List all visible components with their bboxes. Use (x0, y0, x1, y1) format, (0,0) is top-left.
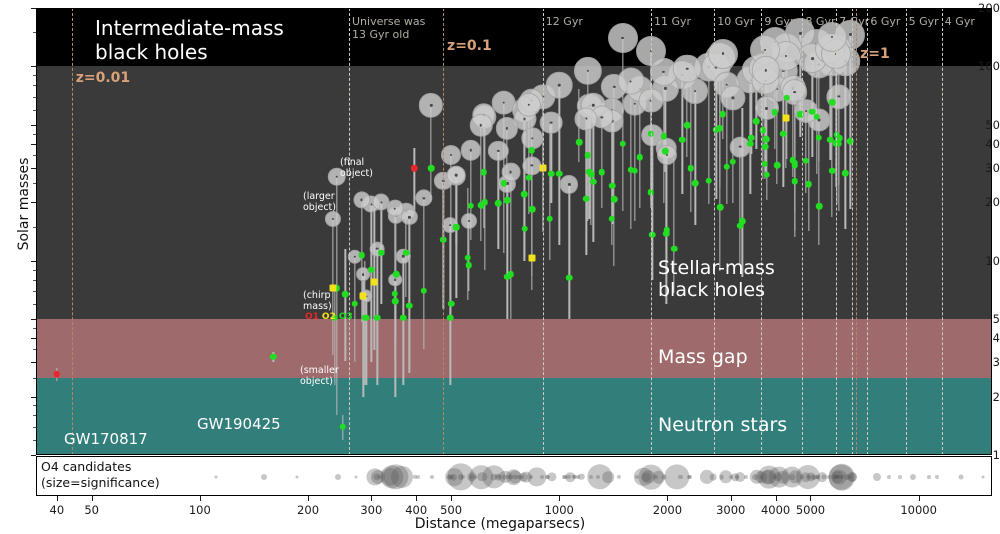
o4-candidate-dot (652, 471, 665, 484)
chirp-mass-marker-o3 (791, 178, 798, 185)
o4-candidate-dot (688, 475, 692, 479)
chirp-mass-marker-o3 (619, 141, 626, 148)
chirp-mass-marker-o3 (803, 158, 810, 165)
y-tick-minor (33, 183, 36, 184)
chirp-mass-marker-o3 (590, 179, 597, 186)
chirp-mass-marker-o3 (809, 108, 816, 115)
y-tick-minor (33, 328, 36, 329)
chirp-mass-marker-o3 (548, 170, 555, 177)
o4-candidate-dot (416, 475, 420, 479)
chirp-mass-marker-o3 (730, 158, 737, 165)
chirp-mass-marker-o2 (360, 292, 367, 299)
y-tick-minor (33, 440, 36, 441)
o4-candidate-dot (295, 476, 298, 479)
event-mass-range-line (361, 200, 362, 322)
y-tick-minor (33, 97, 36, 98)
chirp-mass-marker-o3 (378, 249, 385, 256)
annotation-gw190425: GW190425 (197, 415, 281, 433)
band-label-mass-gap: Mass gap (658, 346, 748, 368)
o4-candidate-dot (617, 475, 621, 479)
final-object-marker (708, 39, 738, 69)
chirp-mass-marker-o3 (662, 148, 669, 155)
chirp-mass-marker-o3 (753, 118, 760, 125)
y-tick-label-40: 40 (970, 137, 1000, 151)
y-tick-minor (33, 227, 36, 228)
y-tick-minor (33, 378, 36, 379)
o4-candidate-dot (576, 475, 580, 479)
final-object-marker (470, 114, 493, 137)
chirp-mass-marker-o3 (705, 177, 712, 184)
event-mass-range-line (549, 125, 550, 259)
lookback-line-4-gyr (942, 8, 943, 455)
final-object-marker (560, 175, 578, 193)
chirp-mass-marker-o3 (660, 133, 667, 140)
x-tick-label-10000: 10000 (900, 503, 937, 517)
x-tick-mark-10000 (919, 496, 920, 501)
y-tick-mark-30 (31, 168, 36, 169)
final-object-marker (546, 72, 573, 99)
y-tick-minor (33, 427, 36, 428)
x-tick-label-100: 100 (189, 503, 211, 517)
x-tick-mark-400 (416, 496, 417, 501)
y-tick-mark-2 (31, 397, 36, 398)
chirp-mass-marker-o3 (586, 168, 593, 175)
lookback-line-universe-was-13-gyr-old (349, 8, 350, 455)
legend-run-o3: O3 (339, 312, 353, 322)
chirp-mass-marker-o2 (528, 254, 535, 261)
lookback-line-7-gyr (836, 8, 837, 455)
chirp-mass-marker-o3 (772, 109, 779, 116)
band-label-intermediate-mass: Intermediate-mass black holes (95, 17, 284, 64)
chirp-mass-marker-o3 (762, 160, 769, 167)
chirp-mass-marker-o3 (584, 152, 591, 159)
event-mass-range-line (354, 257, 355, 363)
chirp-mass-marker-o3 (724, 164, 731, 171)
chirp-mass-marker-o3 (352, 301, 359, 308)
y-tick-mark-5 (31, 319, 36, 320)
y-tick-mark-10 (31, 261, 36, 262)
chirp-mass-marker-o3 (392, 291, 399, 298)
chirp-mass-marker-o3 (400, 314, 407, 321)
event-mass-range-line (569, 184, 570, 319)
y-tick-minor (33, 304, 36, 305)
chirp-mass-marker-o1 (54, 371, 61, 378)
y-tick-minor (33, 85, 36, 86)
x-tick-label-4000: 4000 (761, 503, 790, 517)
lookback-line-5-gyr (906, 8, 907, 455)
y-tick-mark-20 (31, 202, 36, 203)
chirp-mass-marker-o3 (521, 225, 528, 232)
redshift-label-2: z=1 (860, 46, 890, 62)
event-mass-range-line (366, 296, 367, 385)
x-tick-mark-50 (92, 496, 93, 501)
o4-candidate-dot (981, 476, 984, 479)
chirp-mass-marker-o3 (692, 180, 699, 187)
y-tick-label-2: 2 (970, 390, 1000, 404)
chirp-mass-marker-o3 (609, 215, 616, 222)
chirp-mass-marker-o3 (763, 171, 770, 178)
event-mass-range-line (740, 147, 741, 266)
x-tick-label-200: 200 (297, 503, 319, 517)
chirp-mass-marker-o3 (763, 136, 770, 143)
chirp-mass-marker-o3 (816, 203, 823, 210)
chirp-mass-marker-o3 (547, 216, 554, 223)
o4-caption: O4 candidates (size=significance) (41, 459, 160, 490)
y-tick-minor (33, 415, 36, 416)
o4-candidate-dot (664, 464, 689, 489)
chirp-mass-marker-o3 (556, 171, 563, 178)
event-mass-range-line (414, 148, 415, 211)
event-mass-range-line (374, 198, 375, 350)
y-tick-minor (33, 75, 36, 76)
o4-candidate-dot (521, 472, 532, 483)
redshift-line-z-0-1 (443, 8, 444, 455)
event-mass-range-line (666, 155, 667, 261)
redshift-label-1: z=0.1 (447, 38, 492, 54)
event-mass-range-line (423, 198, 424, 349)
y-tick-label-1: 1 (970, 448, 1000, 462)
x-tick-mark-3000 (731, 496, 732, 501)
event-mass-range-line (409, 217, 410, 373)
y-tick-minor (33, 405, 36, 406)
x-tick-label-2000: 2000 (653, 503, 682, 517)
chirp-mass-marker-o3 (495, 200, 502, 207)
chirp-mass-marker-o3 (392, 298, 399, 305)
chirp-mass-marker-o3 (500, 180, 507, 187)
x-tick-mark-200 (308, 496, 309, 501)
o4-candidate-dot (547, 472, 556, 481)
chirp-mass-marker-o3 (507, 271, 514, 278)
chirp-mass-marker-o3 (684, 122, 691, 129)
y-tick-label-3: 3 (970, 355, 1000, 369)
chirp-mass-marker-o3 (599, 169, 606, 176)
chirp-mass-marker-o3 (406, 302, 413, 309)
y-tick-minor (33, 280, 36, 281)
chirp-mass-marker-o2 (371, 279, 378, 286)
x-tick-mark-300 (371, 496, 372, 501)
o4-candidate-dot (887, 475, 891, 479)
o4-candidate-dot (898, 475, 902, 479)
o4-candidate-dot (469, 465, 493, 489)
y-tick-label-5: 5 (970, 312, 1000, 326)
o4-candidate-dot (873, 473, 881, 481)
chirp-mass-marker-o3 (829, 167, 836, 174)
chirp-mass-marker-o3 (671, 245, 678, 252)
x-axis-title: Distance (megaparsecs) (0, 516, 1000, 532)
chirp-mass-marker-o3 (609, 183, 616, 190)
y-tick-minor (33, 134, 36, 135)
chirp-mass-marker-o3 (717, 204, 724, 211)
x-tick-mark-5000 (810, 496, 811, 501)
event-mass-range-line (601, 117, 602, 208)
chirp-mass-marker-o3 (428, 165, 435, 172)
band-label-neutron-stars: Neutron stars (658, 414, 787, 436)
lookback-label-6: 7 Gyr (839, 15, 869, 28)
o4-candidate-dot (603, 471, 615, 483)
chirp-mass-marker-o3 (361, 314, 368, 321)
chirp-mass-marker-o3 (679, 136, 686, 143)
chirp-mass-marker-o3 (829, 99, 836, 106)
lookback-line-11-gyr (651, 8, 652, 455)
chirp-mass-marker-o3 (780, 131, 787, 138)
chirp-mass-marker-o3 (342, 291, 349, 298)
x-tick-mark-40 (57, 496, 58, 501)
x-tick-label-500: 500 (440, 503, 462, 517)
chirp-mass-marker-o3 (688, 165, 695, 172)
x-tick-label-3000: 3000 (716, 503, 745, 517)
chirp-mass-marker-o3 (529, 206, 536, 213)
o4-candidate-dot (800, 475, 804, 479)
lookback-label-0: Universe was 13 Gyr old (352, 15, 425, 42)
chirp-mass-marker-o3 (421, 288, 428, 295)
chirp-mass-marker-o3 (358, 252, 365, 259)
lookback-line-6-gyr (867, 8, 868, 455)
redshift-line-z-1 (856, 8, 857, 455)
event-mass-range-line (742, 108, 743, 277)
lookback-label-7: 6 Gyr (870, 15, 900, 28)
band-mass-gap (36, 319, 992, 377)
o4-candidate-dot (743, 475, 747, 479)
lookback-line-9-gyr (761, 8, 762, 455)
o4-candidate-dot (261, 474, 267, 480)
x-tick-label-1000: 1000 (545, 503, 574, 517)
chirp-mass-marker-o3 (576, 139, 583, 146)
x-tick-label-40: 40 (50, 503, 65, 517)
y-tick-minor (33, 270, 36, 271)
y-tick-label-50: 50 (970, 118, 1000, 132)
chirp-mass-marker-o3 (368, 266, 375, 273)
y-tick-label-10: 10 (970, 254, 1000, 268)
y-tick-mark-40 (31, 144, 36, 145)
o4-candidate-dot (391, 466, 413, 488)
final-object-marker (461, 213, 477, 229)
chirp-mass-marker-o3 (466, 262, 473, 269)
o4-candidate-dot (927, 475, 931, 479)
chirp-mass-marker-o3 (583, 196, 590, 203)
x-tick-label-5000: 5000 (796, 503, 825, 517)
o4-candidate-dot (502, 475, 507, 480)
o4-candidate-dot (700, 470, 714, 484)
legend-run-o1: O1 (305, 312, 319, 322)
o4-candidate-dot (958, 475, 963, 480)
chirp-mass-marker-o3 (806, 181, 813, 188)
y-tick-label-20: 20 (970, 195, 1000, 209)
y-tick-mark-4 (31, 338, 36, 339)
lookback-label-8: 5 Gyr (909, 15, 939, 28)
x-tick-mark-2000 (667, 496, 668, 501)
chirp-mass-marker-o3 (719, 111, 726, 118)
y-tick-mark-1 (31, 455, 36, 456)
final-object-marker (447, 166, 466, 185)
final-object-marker (673, 54, 702, 83)
chirp-mass-marker-o3 (521, 191, 528, 198)
x-tick-label-400: 400 (405, 503, 427, 517)
event-mass-range-line (559, 85, 560, 245)
x-tick-mark-4000 (776, 496, 777, 501)
event-mass-range-line (430, 105, 431, 202)
chirp-mass-marker-o3 (504, 197, 511, 204)
chirp-mass-marker-o3 (783, 94, 790, 101)
event-mass-range-line (551, 123, 552, 203)
event-mass-range-line (586, 119, 587, 255)
chirp-mass-marker-o3 (525, 175, 532, 182)
y-tick-minor (33, 155, 36, 156)
lookback-label-2: 11 Gyr (654, 15, 691, 28)
chirp-mass-marker-o3 (611, 196, 618, 203)
o4-candidate-dot (720, 475, 725, 480)
chirp-mass-marker-o3 (627, 166, 634, 173)
o4-candidate-dot (458, 474, 464, 480)
annotation-smaller-object: (smaller object) (300, 365, 339, 388)
chirp-mass-marker-o3 (453, 225, 460, 232)
chirp-mass-marker-o3 (403, 249, 410, 256)
event-mass-range-line (345, 249, 346, 362)
observing-run-legend: O1O2O3 (305, 312, 356, 322)
plot-area: Universe was 13 Gyr old12 Gyr11 Gyr10 Gy… (36, 8, 992, 455)
final-object-marker (617, 68, 644, 95)
y-tick-label-200: 200 (970, 1, 1000, 15)
chirp-mass-marker-o3 (480, 169, 487, 176)
final-object-marker (608, 23, 638, 53)
final-object-marker (501, 163, 520, 182)
chirp-mass-marker-o3 (759, 127, 766, 134)
legend-run-o2: O2 (322, 312, 336, 322)
redshift-line-z-0-01 (72, 8, 73, 455)
y-tick-mark-100 (31, 66, 36, 67)
o4-candidate-dot (755, 471, 767, 483)
band-neutron-stars (36, 378, 992, 455)
chirp-mass-marker-o3 (747, 141, 754, 148)
x-tick-label-50: 50 (84, 503, 99, 517)
o4-candidates-strip: O4 candidates (size=significance) (36, 456, 992, 496)
chirp-mass-marker-o3 (393, 271, 400, 278)
chirp-mass-marker-o3 (478, 202, 485, 209)
event-mass-range-line (510, 172, 511, 319)
chirp-mass-marker-o3 (447, 314, 454, 321)
chirp-mass-marker-o3 (270, 354, 277, 361)
event-mass-range-line (480, 125, 481, 240)
y-tick-mark-200 (31, 8, 36, 9)
o4-candidate-dot (790, 474, 796, 480)
chirp-mass-marker-o3 (528, 147, 535, 154)
y-axis-title: Solar masses (16, 104, 32, 304)
y-tick-mark-3 (31, 362, 36, 363)
event-mass-range-line (808, 114, 809, 231)
x-tick-mark-100 (200, 496, 201, 501)
y-tick-minor (33, 110, 36, 111)
o4-candidate-dot (430, 475, 434, 479)
annotation-larger-object: (larger object) (303, 191, 336, 214)
chirp-mass-marker-o3 (791, 162, 798, 169)
x-tick-mark-1000 (559, 496, 560, 501)
chirp-mass-marker-o3 (464, 254, 471, 261)
chirp-mass-marker-o1 (411, 165, 418, 172)
annotation-final-object: (final object) (340, 157, 373, 180)
chirp-mass-marker-o3 (448, 301, 455, 308)
event-mass-range-line (708, 67, 709, 204)
band-label-stellar-mass: Stellar-mass black holes (658, 257, 775, 302)
o4-candidate-dot (910, 474, 916, 480)
lookback-label-5: 8 Gyr (805, 15, 835, 28)
gravitational-wave-detections-figure: Solar masses Universe was 13 Gyr old12 G… (0, 0, 1000, 534)
o4-candidate-dot (354, 476, 357, 479)
y-tick-minor (33, 32, 36, 33)
chirp-mass-marker-o3 (664, 227, 671, 234)
lookback-line-10-gyr (714, 8, 715, 455)
lookback-label-1: 12 Gyr (546, 15, 583, 28)
y-tick-label-100: 100 (970, 59, 1000, 73)
chirp-mass-marker-o3 (774, 162, 781, 169)
y-tick-label-4: 4 (970, 331, 1000, 345)
lookback-line-12-gyr (543, 8, 544, 455)
redshift-label-0: z=0.01 (76, 70, 130, 86)
lookback-label-3: 10 Gyr (717, 15, 754, 28)
annotation-chirp-mass: (chirp mass) (303, 290, 332, 313)
event-mass-range-line (634, 104, 635, 222)
lookback-label-9: 4 Gyr (945, 15, 975, 28)
x-tick-mark-500 (451, 496, 452, 501)
chirp-mass-marker-o3 (816, 135, 823, 142)
redshift-line-z-1-companion (852, 8, 853, 455)
o4-candidate-dot (335, 474, 341, 480)
o4-candidate-dot (447, 475, 452, 480)
chirp-mass-marker-o3 (637, 154, 644, 161)
y-tick-mark-50 (31, 125, 36, 126)
chirp-mass-marker-o3 (566, 274, 573, 281)
chirp-mass-marker-o3 (842, 170, 849, 177)
o4-candidate-dot (214, 476, 217, 479)
chirp-mass-marker-o3 (737, 222, 744, 229)
final-object-marker (575, 107, 598, 130)
event-mass-range-line (612, 121, 613, 224)
chirp-mass-marker-o3 (748, 134, 755, 141)
chirp-mass-marker-o2 (782, 114, 789, 121)
lookback-line-8-gyr (802, 8, 803, 455)
chirp-mass-marker-o3 (374, 314, 381, 321)
o4-candidate-dot (776, 471, 789, 484)
o4-candidate-dot (935, 475, 939, 479)
x-tick-label-300: 300 (360, 503, 382, 517)
annotation-gw170817: GW170817 (64, 430, 148, 448)
chirp-mass-marker-o3 (467, 203, 474, 210)
chirp-mass-marker-o3 (762, 144, 769, 151)
y-tick-minor (33, 291, 36, 292)
y-tick-label-30: 30 (970, 161, 1000, 175)
event-mass-range-line (695, 91, 696, 225)
o4-candidate-dot (812, 475, 817, 480)
y-tick-minor (33, 349, 36, 350)
lookback-label-4: 9 Gyr (764, 15, 794, 28)
chirp-mass-marker-o3 (340, 423, 347, 430)
